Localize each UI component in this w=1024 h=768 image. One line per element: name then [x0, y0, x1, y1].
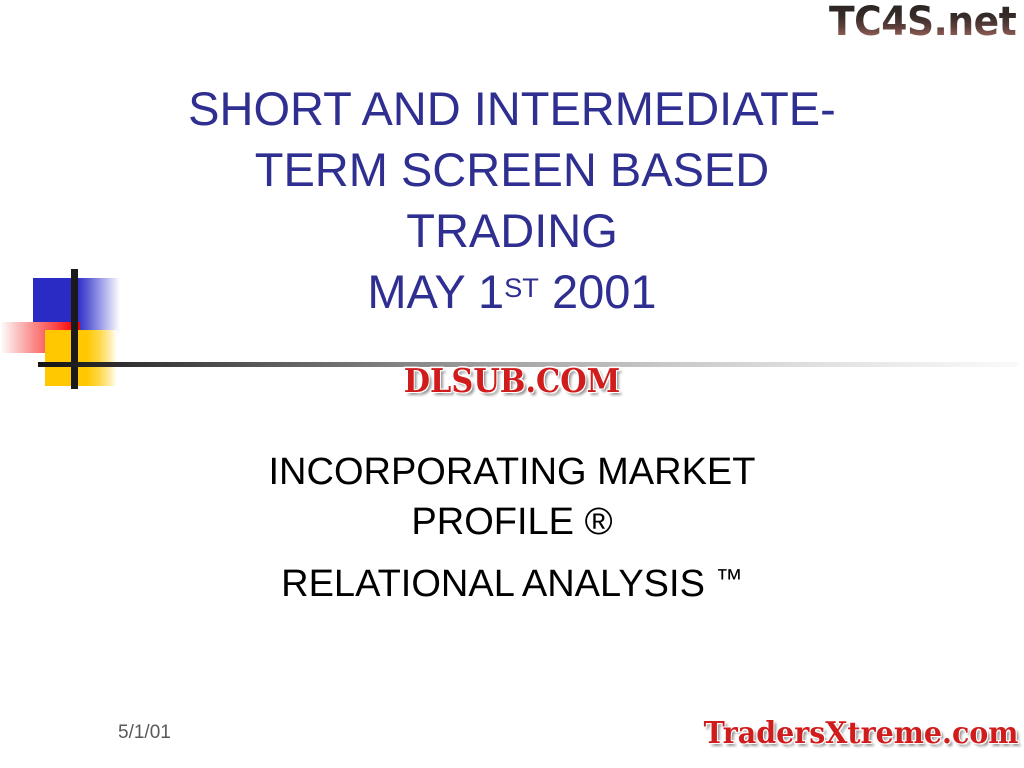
subtitle-block: INCORPORATING MARKET PROFILE ® RELATIONA… [0, 447, 1024, 612]
subtitle-spacer [0, 547, 1024, 559]
decorative-yellow-square [45, 330, 117, 386]
trademark-icon: ™ [716, 563, 743, 594]
tradersxtreme-watermark: TradersXtreme.com [703, 716, 1018, 751]
subtitle-line-3: RELATIONAL ANALYSIS ™ [0, 559, 1024, 612]
title-date-ordinal-suffix: ST [504, 272, 539, 303]
dlsub-watermark: DLSUB.COM [404, 361, 621, 400]
tc4s-logo: TC4S.net [829, 2, 1016, 42]
title-line-3: TRADING [0, 200, 1024, 261]
subtitle-line-3-text: RELATIONAL ANALYSIS [281, 563, 715, 605]
decorative-graphic [0, 0, 200, 140]
subtitle-line-1: INCORPORATING MARKET [0, 447, 1024, 497]
title-line-4: MAY 1ST 2001 [0, 261, 1024, 329]
title-date-year: 2001 [539, 265, 657, 318]
subtitle-line-2-text: PROFILE [411, 501, 584, 543]
slide-date: 5/1/01 [118, 722, 171, 744]
decorative-vertical-bar [71, 269, 78, 389]
title-date-prefix: MAY 1 [367, 265, 504, 318]
registered-trademark-icon: ® [585, 501, 613, 543]
title-line-2: TERM SCREEN BASED [0, 139, 1024, 200]
slide-canvas: TC4S.net SHORT AND INTERMEDIATE- TERM SC… [0, 0, 1024, 768]
subtitle-line-2: PROFILE ® [0, 497, 1024, 547]
